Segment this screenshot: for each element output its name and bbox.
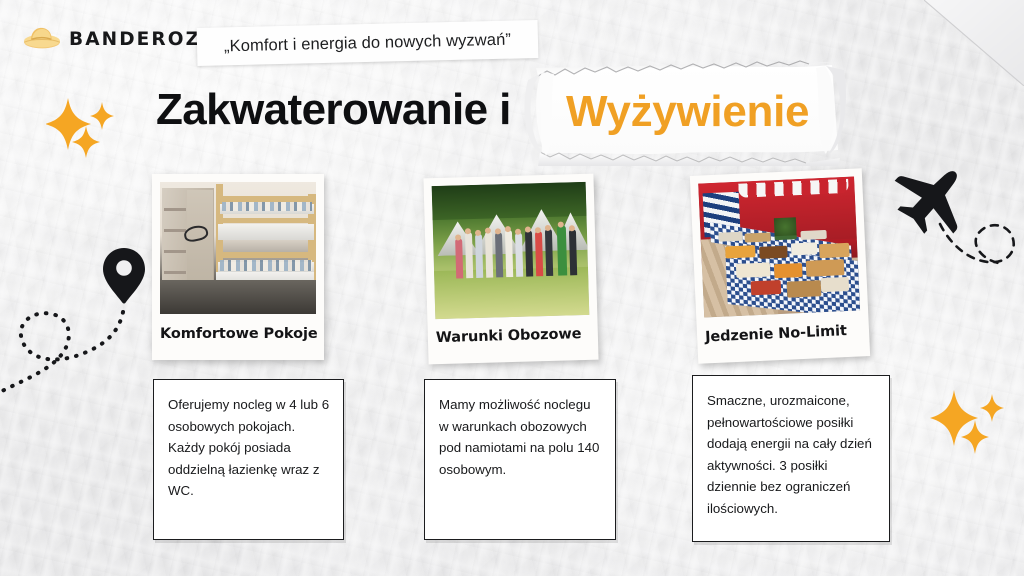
page-curl-icon (924, 0, 1024, 86)
slide-canvas: BANDEROZA „Komfort i energia do nowych w… (0, 0, 1024, 576)
card-description-komfortowe-pokoje: Oferujemy nocleg w 4 lub 6 osobowych pok… (153, 379, 344, 540)
location-pin-icon (0, 240, 152, 400)
photo-card-warunki-obozowe[interactable]: Warunki Obozowe (423, 174, 598, 365)
card-caption: Warunki Obozowe (428, 326, 598, 347)
photo-bunk-bed-room (160, 182, 316, 314)
sparkles-icon (46, 92, 124, 158)
photo-camp-tents-group (432, 182, 590, 319)
page-title-accent: Wyżywienie (566, 90, 809, 134)
tagline-text: „Komfort i energia do nowych wyzwań” (224, 30, 511, 56)
card-description-jedzenie-no-limit: Smaczne, urozmaicone, pełnowartościowe p… (692, 375, 890, 542)
card-caption: Komfortowe Pokoje (152, 326, 324, 342)
page-title: Zakwaterowanie i (156, 88, 511, 132)
card-caption: Jedzenie No-Limit (697, 322, 870, 346)
card-description-warunki-obozowe: Mamy możliwość noclegu w warunkach obozo… (424, 379, 616, 540)
photo-buffet-table (698, 177, 860, 318)
photo-card-komfortowe-pokoje[interactable]: Komfortowe Pokoje (152, 174, 324, 360)
photo-card-jedzenie-no-limit[interactable]: Jedzenie No-Limit (690, 168, 870, 364)
tagline-banner: „Komfort i energia do nowych wyzwań” (197, 20, 539, 66)
brand-logo[interactable]: BANDEROZA (22, 24, 218, 55)
brand-name: BANDEROZA (69, 29, 218, 50)
sparkles-icon (930, 386, 1012, 458)
straw-hat-icon (22, 24, 62, 55)
airplane-icon (892, 162, 1024, 304)
